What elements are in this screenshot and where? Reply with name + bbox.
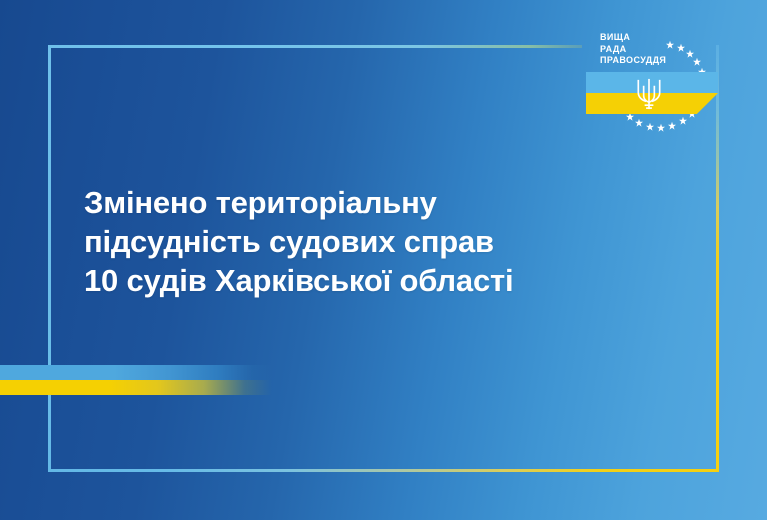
ribbon-yellow-band <box>0 380 272 395</box>
news-banner: Змінено територіальну підсудність судови… <box>0 0 767 520</box>
organization-name: ВИЩА РАДА ПРАВОСУДДЯ <box>600 32 666 67</box>
frame-left-edge <box>48 45 51 472</box>
frame-bottom-edge <box>48 469 719 472</box>
page-title: Змінено територіальну підсудність судови… <box>84 183 604 300</box>
ribbon-blue-band <box>0 365 272 380</box>
ukrainian-trident-icon <box>634 76 664 112</box>
frame-top-edge <box>48 45 582 48</box>
ukraine-flag-ribbon <box>0 365 272 395</box>
organization-logo: ВИЩА РАДА ПРАВОСУДДЯ <box>578 22 728 150</box>
